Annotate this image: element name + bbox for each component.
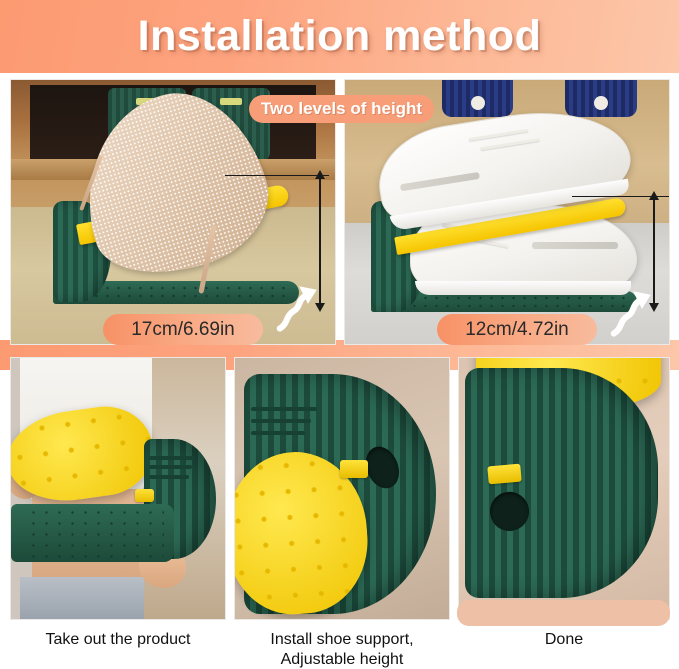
base-plate-texture bbox=[27, 507, 164, 557]
comb-slot bbox=[149, 465, 191, 469]
green-base-plate-part bbox=[11, 504, 174, 561]
dimension-tick-top bbox=[225, 175, 329, 176]
decorative-peach-bar bbox=[457, 600, 670, 626]
comb-slot bbox=[251, 419, 311, 423]
bin-hole bbox=[471, 96, 485, 110]
person-jeans bbox=[20, 577, 144, 619]
panel-done bbox=[458, 357, 670, 620]
sneaker-lace bbox=[481, 138, 541, 150]
panel-install-shoe-support bbox=[234, 357, 450, 620]
blue-bin-1 bbox=[442, 79, 513, 117]
blue-bin-2 bbox=[565, 79, 636, 117]
badge-dimension-right: 12cm/4.72in bbox=[437, 314, 597, 345]
caption-done: Done bbox=[458, 630, 670, 650]
header-banner: Installation method bbox=[0, 0, 679, 73]
caption-line-2: Adjustable height bbox=[234, 650, 450, 669]
product-infographic: Installation method Installation method bbox=[0, 0, 679, 669]
comb-slot bbox=[149, 456, 194, 460]
scene-install-support bbox=[235, 358, 449, 619]
high-heel-shoe bbox=[82, 96, 263, 270]
comb-slot bbox=[251, 431, 305, 435]
scene-done bbox=[459, 358, 669, 619]
bin-hole bbox=[594, 96, 608, 110]
green-rack-body-assembled bbox=[465, 368, 658, 598]
badge-dimension-left: 17cm/6.69in bbox=[103, 314, 263, 345]
panel-take-out-product bbox=[10, 357, 226, 620]
caption-take-out-product: Take out the product bbox=[10, 630, 226, 650]
sneaker-lace bbox=[469, 129, 529, 141]
comb-slot bbox=[251, 407, 316, 411]
rack-base-texture bbox=[387, 294, 627, 308]
upward-squiggle-arrow-icon bbox=[270, 281, 328, 334]
yellow-locking-tab bbox=[135, 489, 154, 502]
oval-grip-hole bbox=[487, 489, 532, 534]
sneaker-side-stripe bbox=[400, 172, 480, 191]
caption-line-1: Install shoe support, bbox=[234, 630, 450, 650]
caption-install-shoe-support: Install shoe support, Adjustable height bbox=[234, 630, 450, 669]
upward-squiggle-arrow-icon bbox=[604, 286, 662, 339]
scene-take-out bbox=[11, 358, 225, 619]
badge-two-levels-of-height: Two levels of height bbox=[249, 95, 434, 123]
sneaker-sole bbox=[415, 281, 631, 295]
sneaker-side-stripe bbox=[532, 242, 617, 249]
comb-slot bbox=[149, 475, 188, 479]
yellow-locking-tab bbox=[340, 460, 368, 478]
yellow-locking-tab bbox=[488, 463, 522, 484]
page-title: Installation method bbox=[138, 12, 542, 61]
